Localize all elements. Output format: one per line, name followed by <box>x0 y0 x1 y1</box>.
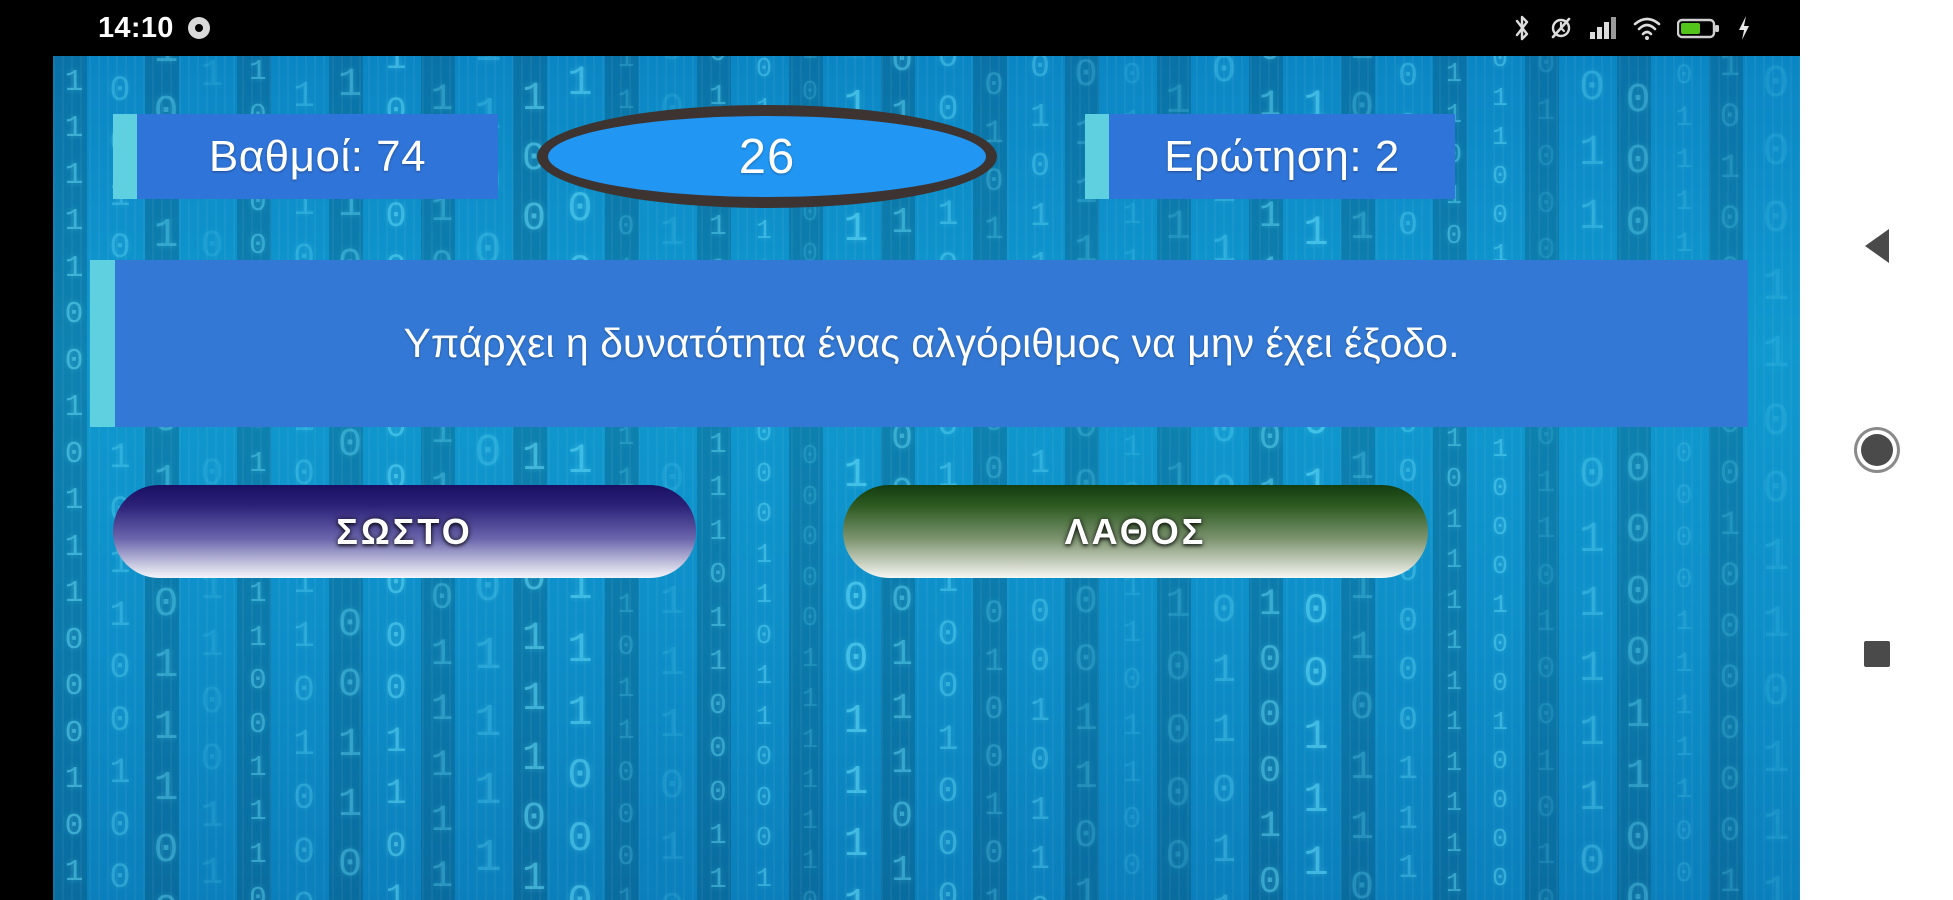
score-label: Βαθμοί: 74 <box>137 132 498 182</box>
navigation-bar <box>1800 0 1953 900</box>
score-accent-strip <box>113 114 137 199</box>
answer-true-button[interactable]: ΣΩΣΤΟ <box>113 485 696 578</box>
left-bezel <box>0 0 53 900</box>
score-box: Βαθμοί: 74 <box>113 114 498 199</box>
question-number-box: Ερώτηση: 2 <box>1085 114 1455 199</box>
question-text: Υπάρχει η δυνατότητα ένας αλγόριθμος να … <box>115 318 1748 369</box>
battery-charging-icon <box>1677 13 1721 43</box>
charging-bolt-icon <box>1736 13 1752 43</box>
sync-disabled-icon <box>1548 13 1574 43</box>
quiz-header: Βαθμοί: 74 26 Ερώτηση: 2 <box>53 56 1800 246</box>
phone-screen: 0 1 1 1 1 1 0 0 1 0 1 1 1 0 0 0 1 0 1 1 … <box>0 0 1953 900</box>
timer-value: 26 <box>739 129 796 185</box>
status-bar-left: 14:10 <box>98 12 210 45</box>
nav-recents-button[interactable] <box>1849 626 1905 682</box>
timer-oval: 26 <box>537 105 997 208</box>
status-bar: 14:10 <box>0 0 1800 56</box>
question-box: Υπάρχει η δυνατότητα ένας αλγόριθμος να … <box>90 260 1748 427</box>
recents-square-icon <box>1864 641 1890 667</box>
cellular-signal-icon <box>1589 13 1617 43</box>
back-triangle-icon <box>1865 229 1889 263</box>
quiz-app-screen: 0 1 1 1 1 1 0 0 1 0 1 1 1 0 0 0 1 0 1 1 … <box>53 56 1800 900</box>
question-number-accent-strip <box>1085 114 1109 199</box>
nav-home-button[interactable] <box>1849 422 1905 478</box>
home-circle-icon <box>1861 434 1893 466</box>
status-bar-right <box>1511 13 1752 43</box>
question-number-label: Ερώτηση: 2 <box>1109 132 1455 182</box>
status-clock: 14:10 <box>98 12 174 45</box>
answer-false-button[interactable]: ΛΑΘΟΣ <box>843 485 1428 578</box>
question-accent-strip <box>90 260 115 427</box>
bluetooth-icon <box>1511 13 1533 43</box>
app-notification-icon <box>188 17 210 39</box>
wifi-icon <box>1632 13 1662 43</box>
nav-back-button[interactable] <box>1849 218 1905 274</box>
